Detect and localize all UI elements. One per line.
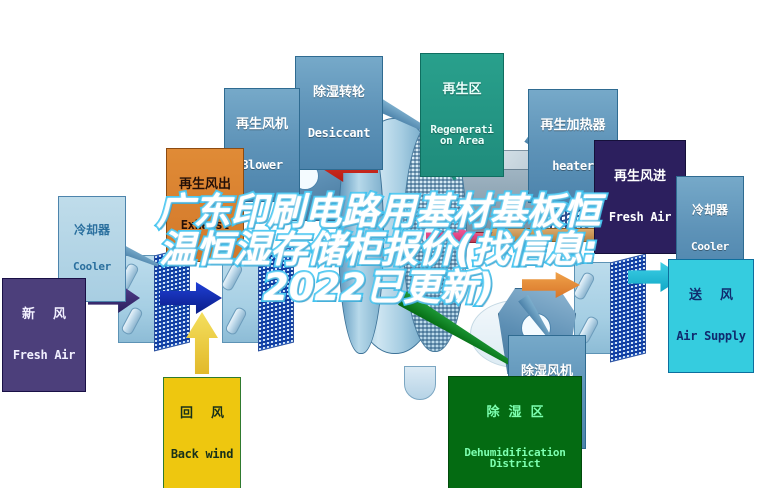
label-desiccant-wheel[interactable]: 除湿转轮 Desiccant (295, 56, 383, 170)
label-cn: 新 风 (8, 308, 80, 322)
label-cn: 再生加热器 (534, 119, 612, 133)
overlay-title-line-2: 温恒湿存储柜报价(找信息: (0, 231, 757, 269)
condensate-trough (404, 366, 436, 400)
diagram-canvas: XT 除湿转轮 Desiccant 再生风机 B (0, 0, 757, 488)
label-cn: 再生区 (426, 83, 498, 97)
label-en: Fresh Air (8, 349, 80, 361)
label-back-wind[interactable]: 回 风 Back wind (163, 377, 241, 488)
overlay-title-line-3: 2022已更新) (0, 269, 757, 307)
label-cn: 除湿转轮 (301, 86, 377, 100)
label-cn: 再生风机 (230, 118, 294, 132)
label-en: Dehumidification District (454, 447, 576, 470)
label-dehumid-district[interactable]: 除 湿 区 Dehumidification District (448, 376, 582, 488)
label-cn: 再生风进 (600, 170, 680, 184)
overlay-title-line-1: 广东印刷电路用基材基板恒 (0, 193, 757, 231)
label-cn: 回 风 (169, 407, 235, 421)
label-en: Back wind (169, 448, 235, 460)
back-wind-flow-arrow (186, 312, 218, 374)
label-en: Regenerati on Area (426, 124, 498, 147)
label-en: Desiccant (301, 127, 377, 139)
overlay-title: 广东印刷电路用基材基板恒 温恒湿存储柜报价(找信息: 2022已更新) (0, 193, 757, 307)
label-regen-area[interactable]: 再生区 Regenerati on Area (420, 53, 504, 177)
label-cn: 除 湿 区 (454, 406, 576, 420)
label-en: Air Supply (674, 330, 748, 342)
